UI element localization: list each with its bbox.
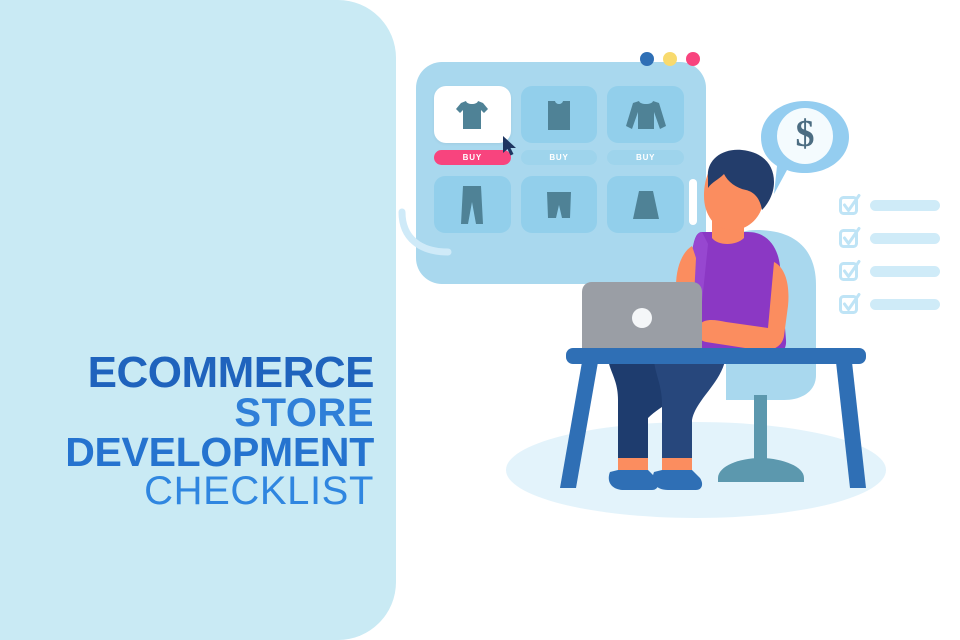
character-legs [608,352,726,470]
laptop [582,282,702,352]
illustration: BUY BUY BUY [396,0,960,640]
headline-line-checklist: Checklist [0,472,374,510]
left-panel [0,0,396,640]
headline-line-development: Development [0,433,374,472]
workspace-scene [396,0,960,640]
headline-line-ecommerce: Ecommerce [0,352,374,394]
poster-canvas: Ecommerce Store Development Checklist [0,0,960,640]
headline-line-store: Store [0,394,374,432]
page-title: Ecommerce Store Development Checklist [0,352,374,510]
character-head [704,150,774,244]
character-feet [609,458,702,490]
